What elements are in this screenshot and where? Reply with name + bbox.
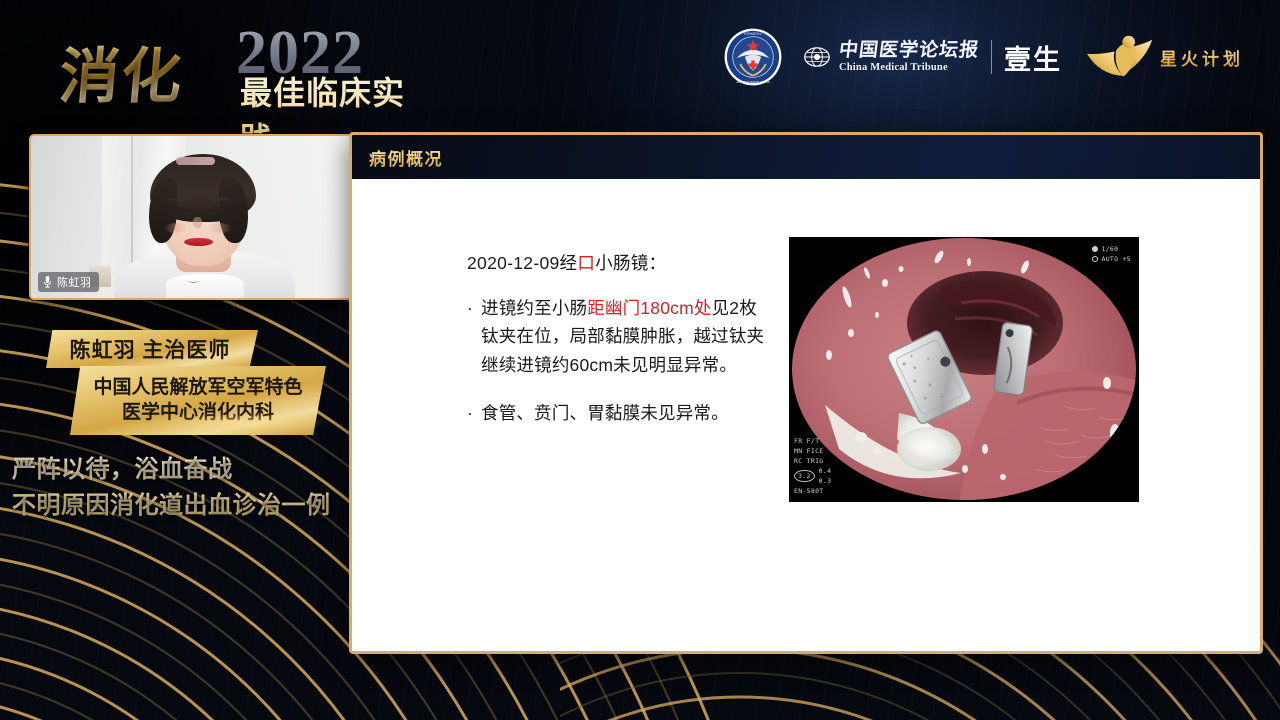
slide-header-bar: 病例概况 xyxy=(352,135,1260,179)
endoscope-sub-b: 0.3 xyxy=(819,476,832,486)
talk-title: 严阵以待，浴血奋战 不明原因消化道出血诊治一例 xyxy=(12,452,372,524)
speaker-name-title: 陈虹羽 主治医师 xyxy=(70,334,231,364)
endoscopy-image: 1/60 AUTO +5 FR F/T MN FICE RC TRIG 3.2 … xyxy=(789,237,1139,502)
plaque-glow xyxy=(150,414,330,430)
endoscope-level-value: 3.2 xyxy=(794,470,815,482)
air-force-medical-center-emblem-icon: 空军特色医学中心 AIR FORCE MEDICAL CENTER xyxy=(724,28,782,86)
slide-header-title: 病例概况 xyxy=(369,145,443,170)
logo-divider xyxy=(991,40,992,74)
speaker-name-plaque: 陈虹羽 主治医师 xyxy=(46,330,258,368)
endoscope-model: EN-580T xyxy=(794,486,831,496)
slide-text-column: 2020-12-09经口小肠镜： · 进镜约至小肠距幽门180cm处见2枚钛夹在… xyxy=(467,251,767,448)
tribune-name-cn: 中国医学论坛报 xyxy=(838,41,980,60)
spark-program-logo: 星火计划 xyxy=(1084,35,1244,79)
microphone-icon xyxy=(42,275,53,289)
tribune-name-en: China Medical Tribune xyxy=(839,63,979,74)
flying-figure-icon xyxy=(1084,35,1156,79)
lead-pre: 2020-12-09经 xyxy=(467,253,577,273)
affiliation-line-1: 中国人民解放军空军特色 xyxy=(93,375,302,400)
participant-name-badge: 陈虹羽 xyxy=(38,272,99,292)
spark-program-label: 星火计划 xyxy=(1160,45,1244,70)
shutter-icon xyxy=(1092,246,1098,252)
slide-body: 2020-12-09经口小肠镜： · 进镜约至小肠距幽门180cm处见2枚钛夹在… xyxy=(352,179,1260,651)
talk-title-line-2: 不明原因消化道出血诊治一例 xyxy=(12,488,372,524)
endoscope-mode-rc: RC TRIG xyxy=(794,456,831,466)
slide-lead-line: 2020-12-09经口小肠镜： xyxy=(467,251,767,276)
endoscope-overlay-bottom: FR F/T MN FICE RC TRIG 3.2 0.4 0.3 EN-58… xyxy=(794,436,831,496)
svg-text:AIR FORCE MEDICAL CENTER: AIR FORCE MEDICAL CENTER xyxy=(736,81,770,84)
bullet-marker: · xyxy=(467,294,473,380)
speaker-info-plaques: 陈虹羽 主治医师 中国人民解放军空军特色 医学中心消化内科 xyxy=(38,330,328,435)
bullet-text: 食管、贲门、胃黏膜未见异常。 xyxy=(481,399,767,428)
participant-name: 陈虹羽 xyxy=(57,274,92,290)
endoscope-sub-a: 0.4 xyxy=(819,466,832,476)
presentation-slide[interactable]: 病例概况 2020-12-09经口小肠镜： · 进镜约至小肠距幽门180cm处见… xyxy=(349,132,1263,654)
slide-bullet-item: · 进镜约至小肠距幽门180cm处见2枚钛夹在位，局部黏膜肿胀，越过钛夹继续进镜… xyxy=(467,294,767,380)
endoscope-overlay-top: 1/60 AUTO +5 xyxy=(1092,244,1132,264)
tribune-brand-yisheng: 壹生 xyxy=(1004,38,1062,77)
bullet-highlight: 距幽门180cm处 xyxy=(587,298,711,318)
speaker-video-tile[interactable]: 陈虹羽 xyxy=(29,134,355,300)
globe-icon xyxy=(804,46,830,68)
bullet-marker: · xyxy=(467,399,473,428)
bullet-pre: 进镜约至小肠 xyxy=(481,298,587,318)
conference-title: 消化 xyxy=(56,28,188,115)
lead-post: 小肠镜： xyxy=(595,253,666,273)
exposure-icon xyxy=(1092,256,1098,262)
bullet-text: 进镜约至小肠距幽门180cm处见2枚钛夹在位，局部黏膜肿胀，越过钛夹继续进镜约6… xyxy=(481,294,767,380)
conference-logo: 2022 消化 最佳临床实践 xyxy=(44,14,424,106)
lead-highlight: 口 xyxy=(577,253,595,273)
endoscope-mode-mn: MN FICE xyxy=(794,446,831,456)
partner-logos: 空军特色医学中心 AIR FORCE MEDICAL CENTER 中国医学论坛… xyxy=(724,24,1244,90)
broadcast-stage: 2022 消化 最佳临床实践 空军特色医学中心 AIR FORCE MEDICA… xyxy=(0,0,1280,720)
exposure-value: AUTO +5 xyxy=(1102,254,1132,264)
endoscope-mode-fr: FR F/T xyxy=(794,436,831,446)
china-medical-tribune-logo: 中国医学论坛报 China Medical Tribune 壹生 xyxy=(804,38,1062,77)
slide-bullet-item: · 食管、贲门、胃黏膜未见异常。 xyxy=(467,399,767,428)
shutter-value: 1/60 xyxy=(1102,244,1119,254)
talk-title-line-1: 严阵以待，浴血奋战 xyxy=(12,452,372,488)
